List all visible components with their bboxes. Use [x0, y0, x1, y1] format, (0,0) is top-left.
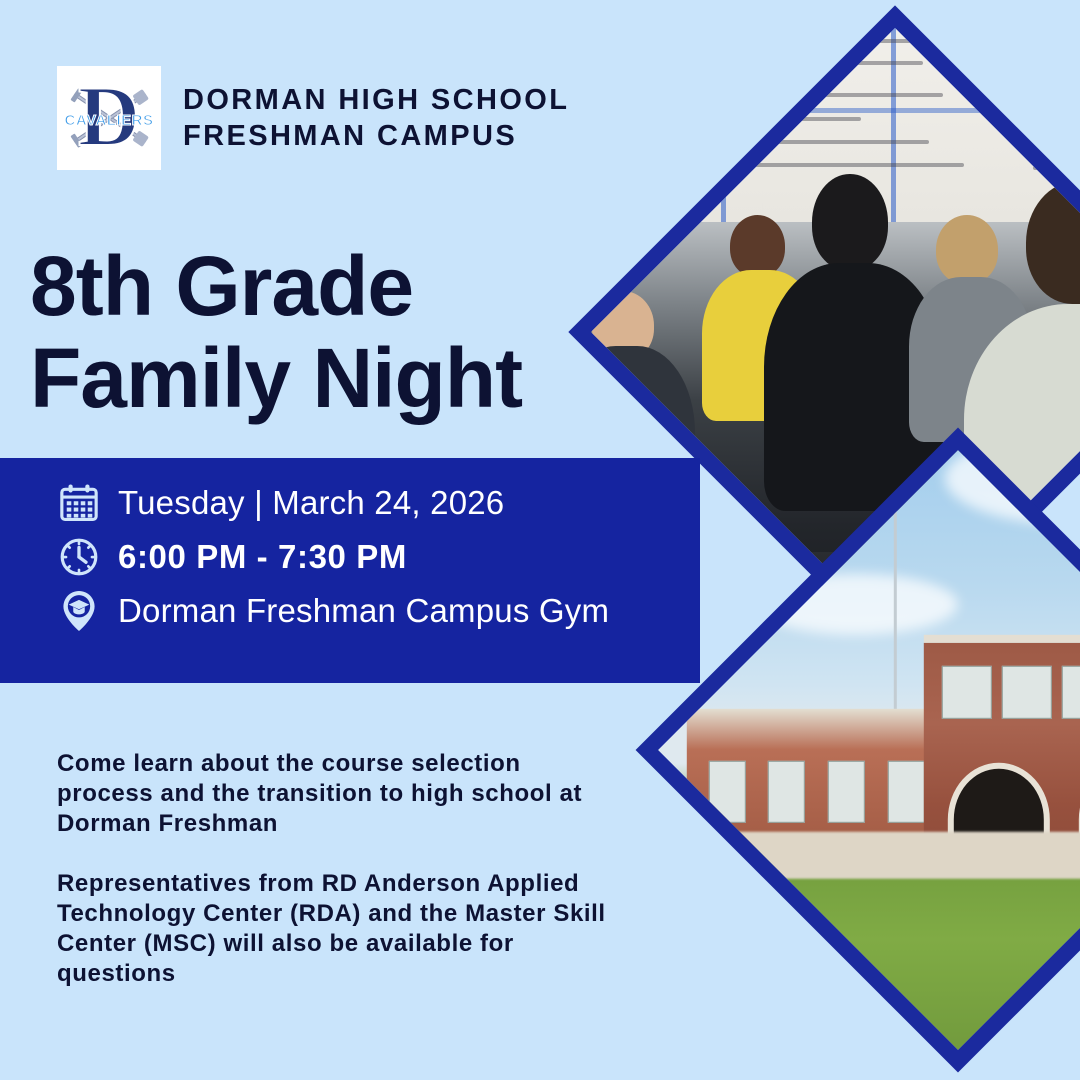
school-name: DORMAN HIGH SCHOOL FRESHMAN CAMPUS — [183, 82, 569, 154]
school-name-line1: DORMAN HIGH SCHOOL — [183, 82, 569, 118]
event-title-line1: 8th Grade — [30, 240, 522, 332]
detail-date-text: Tuesday | March 24, 2026 — [118, 484, 504, 522]
building-wing — [687, 709, 958, 845]
header: D CAVALIERS DORMAN HIGH SCHOOL FRESHMAN … — [57, 66, 569, 170]
school-name-line2: FRESHMAN CAMPUS — [183, 118, 569, 154]
body-copy: Come learn about the course selection pr… — [57, 725, 617, 1013]
detail-time-text: 6:00 PM - 7:30 PM — [118, 538, 407, 576]
body-paragraph-2: Representatives from RD Anderson Applied… — [57, 869, 617, 989]
calendar-icon — [56, 480, 102, 526]
event-title: 8th Grade Family Night — [30, 240, 522, 424]
event-title-line2: Family Night — [30, 332, 522, 424]
detail-row-time: 6:00 PM - 7:30 PM — [56, 534, 700, 580]
dorman-cavaliers-logo: D CAVALIERS — [57, 66, 161, 170]
location-graduation-pin-icon — [56, 588, 102, 634]
detail-row-date: Tuesday | March 24, 2026 — [56, 480, 700, 526]
logo-wordmark: CAVALIERS — [61, 112, 157, 129]
detail-row-location: Dorman Freshman Campus Gym — [56, 588, 700, 634]
body-paragraph-1: Come learn about the course selection pr… — [57, 749, 617, 839]
event-details-band: Tuesday | March 24, 2026 — [0, 458, 700, 683]
flyer-canvas: D CAVALIERS DORMAN HIGH SCHOOL FRESHMAN … — [0, 0, 1080, 1080]
clock-icon — [56, 534, 102, 580]
detail-location-text: Dorman Freshman Campus Gym — [118, 592, 609, 630]
